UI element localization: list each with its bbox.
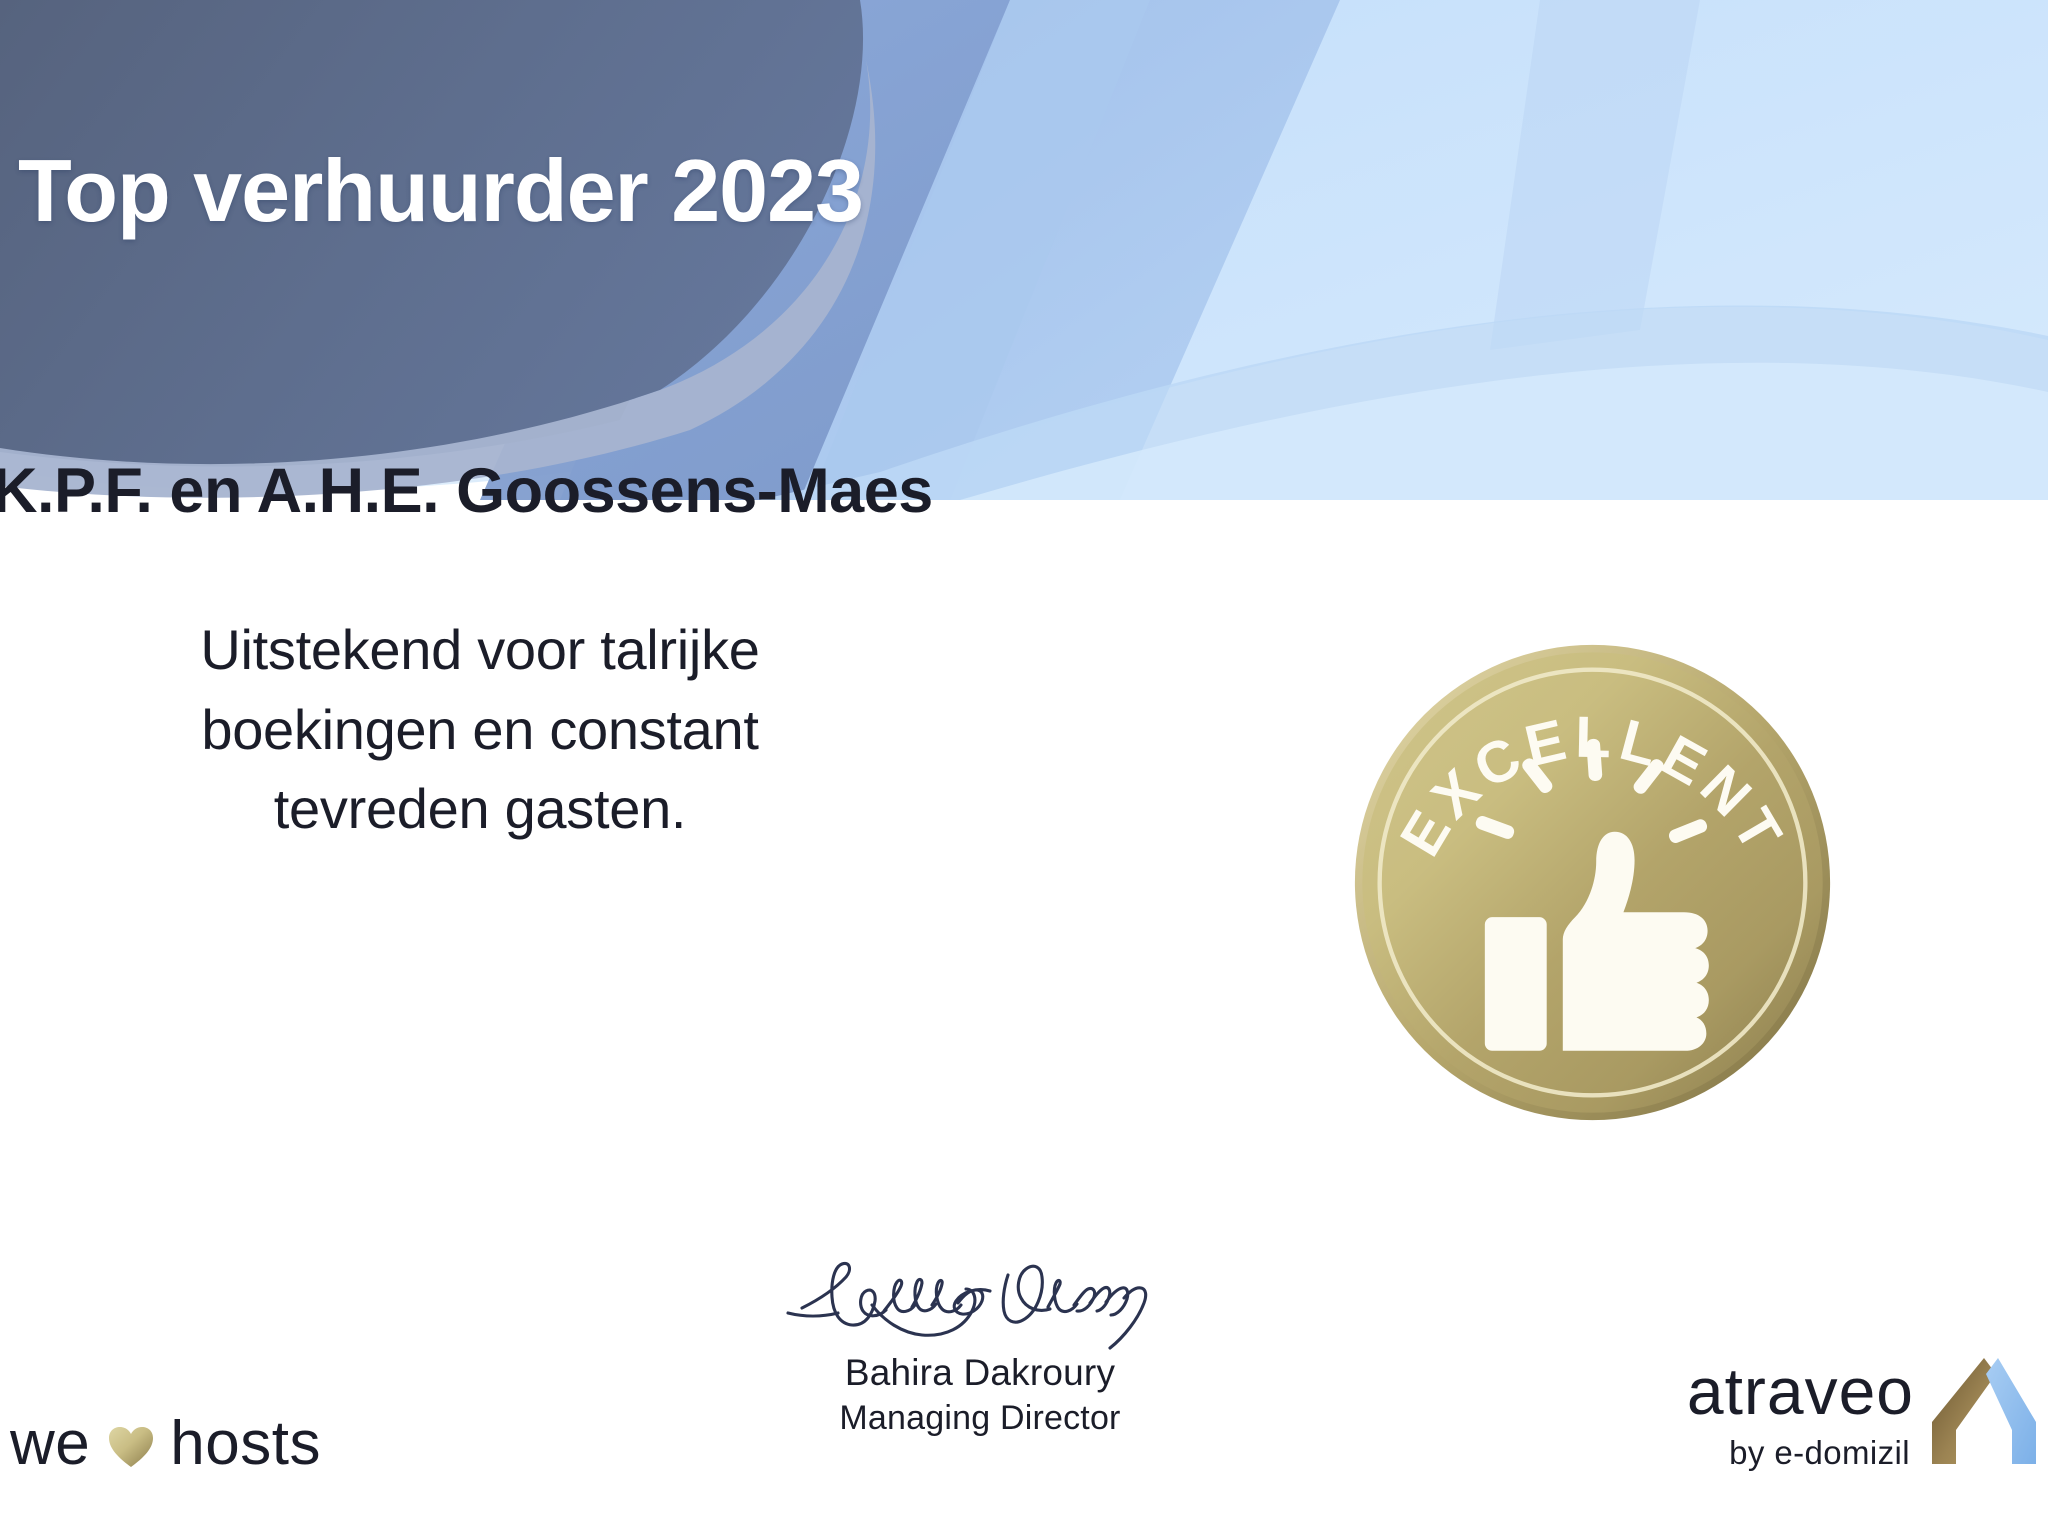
atraveo-subtitle: by e-domizil <box>1687 1434 1914 1472</box>
atraveo-name: atraveo <box>1687 1358 1914 1424</box>
house-roof-icon <box>1928 1352 2040 1502</box>
certificate-page: Top verhuurder 2023 K.P.F. en A.H.E. Goo… <box>0 0 2048 1536</box>
recipient-name: K.P.F. en A.H.E. Goossens-Maes <box>0 455 1012 527</box>
signature-block: Bahira Dakroury Managing Director <box>760 1245 1200 1438</box>
signature-name: Bahira Dakroury <box>760 1352 1200 1394</box>
handwritten-signature <box>760 1245 1200 1350</box>
atraveo-text: atraveo by e-domizil <box>1687 1358 1914 1472</box>
certificate-title: Top verhuurder 2023 <box>18 140 863 242</box>
signature-role: Managing Director <box>760 1399 1200 1438</box>
citation-line-3: tevreden gasten. <box>30 769 930 849</box>
excellent-badge: EXCELLENT <box>1345 635 1840 1130</box>
heart-icon <box>108 1426 154 1468</box>
atraveo-logo: atraveo by e-domizil <box>1687 1358 2040 1502</box>
we-hosts-word-one: we <box>10 1408 90 1479</box>
citation-text: Uitstekend voor talrijke boekingen en co… <box>30 610 930 849</box>
header-wave-graphic <box>0 0 2048 500</box>
we-hosts-word-two: hosts <box>170 1408 321 1479</box>
citation-line-1: Uitstekend voor talrijke <box>30 610 930 690</box>
we-hosts-logo: we hosts <box>10 1408 321 1479</box>
citation-line-2: boekingen en constant <box>30 690 930 770</box>
